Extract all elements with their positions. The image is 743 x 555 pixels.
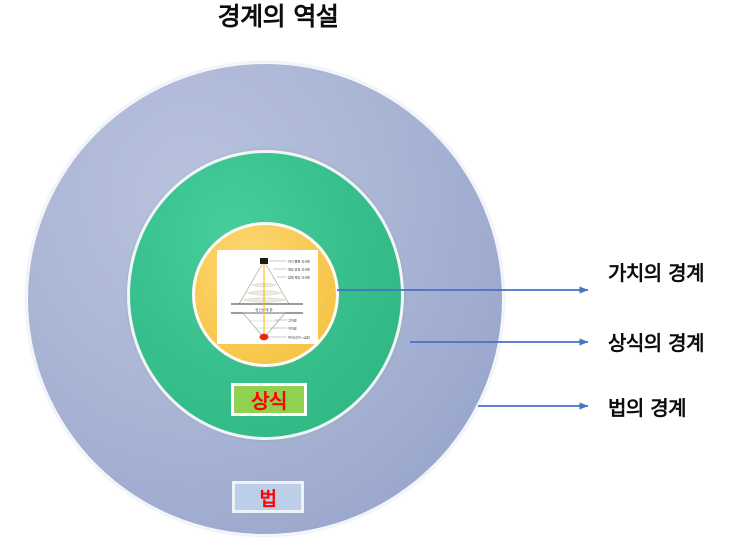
hourglass-diagram-svg: 정신상태 등 자각 물질 의식화 깨닫 감정 의식화 잠재 욕망 의식화 고차원 <box>217 250 318 344</box>
page-title: 경계의 역설 <box>148 2 408 32</box>
label-value-boundary: 가치의 경계 <box>608 257 704 286</box>
svg-text:깨닫 감정 의식화: 깨닫 감정 의식화 <box>288 267 310 272</box>
svg-text:저차원: 저차원 <box>288 325 297 330</box>
slide-canvas: 경계의 역설 정신상태 등 <box>0 0 743 555</box>
label-common-sense-boundary: 상식의 경계 <box>608 327 704 356</box>
chip-law[interactable]: 법 <box>232 481 304 513</box>
svg-text:무의식(저~심층): 무의식(저~심층) <box>288 334 310 339</box>
svg-text:잠재 욕망 의식화: 잠재 욕망 의식화 <box>288 275 310 280</box>
chip-common-sense[interactable]: 상식 <box>231 383 307 416</box>
svg-text:자각 물질 의식화: 자각 물질 의식화 <box>288 259 310 264</box>
svg-text:고차원: 고차원 <box>288 317 297 322</box>
inner-hourglass-diagram-image: 정신상태 등 자각 물질 의식화 깨닫 감정 의식화 잠재 욕망 의식화 고차원 <box>217 250 318 344</box>
label-law-boundary: 법의 경계 <box>608 392 686 421</box>
